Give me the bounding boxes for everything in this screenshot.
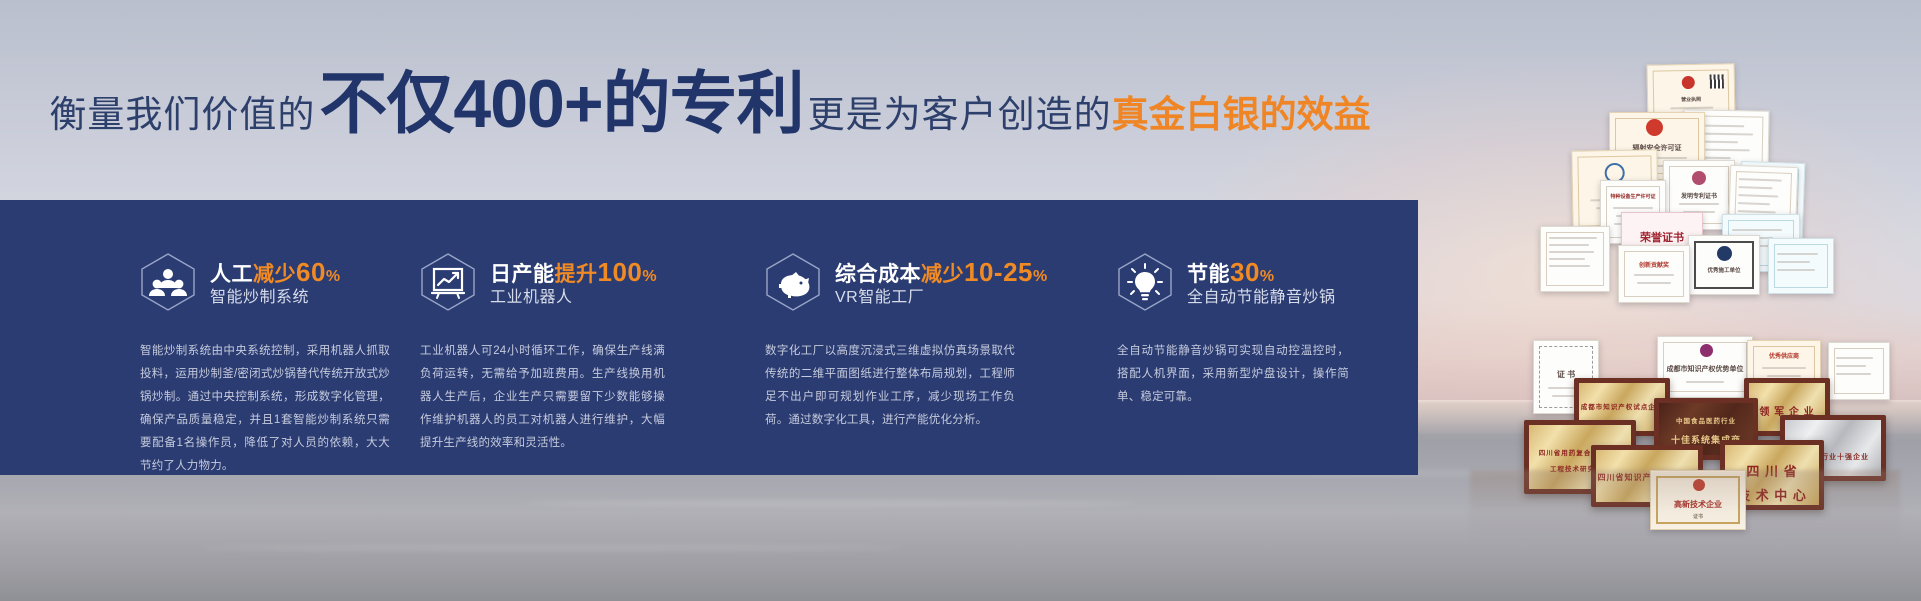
feature-subtitle: 智能炒制系统	[210, 290, 341, 306]
feature-card-titles: 节能30% 全自动节能静音炒锅	[1187, 259, 1336, 306]
certificate	[1828, 342, 1890, 400]
feature-title: 节能30%	[1187, 259, 1336, 285]
certificate: 创新贡献奖	[1618, 245, 1690, 303]
feature-body: 全自动节能静音炒锅可实现自动控温控时，搭配人机界面，采用新型炉盘设计，操作简单、…	[1117, 340, 1349, 409]
feature-title-number: 60	[296, 257, 326, 287]
water-streak	[200, 545, 900, 551]
seal-icon	[1646, 119, 1663, 136]
feature-card-head: 人工减少60% 智能炒制系统	[140, 252, 374, 312]
feature-body: 智能炒制系统由中央系统控制，采用机器人抓取投料，运用炒制釜/密闭式炒锅替代传统开…	[140, 340, 390, 478]
certificate: 优秀施工单位	[1688, 235, 1760, 295]
people-group-icon	[140, 252, 196, 312]
headline-emphasis: 不仅400+的专利	[319, 70, 803, 138]
seal-icon	[1717, 246, 1732, 261]
feature-title-prefix: 综合成本	[835, 263, 921, 286]
piggy-bank-icon	[765, 252, 821, 312]
feature-title-prefix: 人工	[210, 263, 253, 286]
feature-title-unit: %	[1260, 268, 1275, 285]
chart-board-icon	[420, 252, 476, 312]
feature-card: 日产能提升100% 工业机器人 工业机器人可24小时循环工作，确保生产线满负荷运…	[400, 200, 755, 475]
feature-title-unit: %	[642, 268, 657, 285]
feature-card-head: 日产能提升100% 工业机器人	[420, 252, 729, 312]
headline-middle: 更是为客户创造的	[808, 96, 1112, 133]
headline: 衡量我们价值的 不仅400+的专利 更是为客户创造的 真金白银的效益	[0, 70, 1420, 142]
water-streak	[520, 500, 1140, 507]
marketing-banner: 衡量我们价值的 不仅400+的专利 更是为客户创造的 真金白银的效益	[0, 0, 1921, 601]
feature-subtitle: 全自动节能静音炒锅	[1187, 290, 1336, 306]
feature-card: 人工减少60% 智能炒制系统 智能炒制系统由中央系统控制，采用机器人抓取投料，运…	[0, 200, 400, 475]
feature-card-head: 节能30% 全自动节能静音炒锅	[1117, 252, 1392, 312]
feature-title-highlight: 减少	[253, 263, 296, 286]
collage-reflection	[1470, 470, 1900, 540]
feature-title: 综合成本减少10-25%	[835, 259, 1048, 285]
feature-title-prefix: 日产能	[490, 263, 555, 286]
feature-card-titles: 综合成本减少10-25% VR智能工厂	[835, 259, 1048, 306]
certificate	[1768, 238, 1834, 294]
seal-icon	[1692, 171, 1706, 185]
feature-title-highlight: 减少	[921, 263, 964, 286]
certificate-collage: 营业执照 辐射安全许可证	[1440, 40, 1921, 510]
feature-card: 综合成本减少10-25% VR智能工厂 数字化工厂以高度沉浸式三维虚拟仿真场景取…	[755, 200, 1105, 475]
feature-title-number: 100	[598, 257, 643, 287]
feature-title: 日产能提升100%	[490, 259, 657, 285]
headline-accent: 真金白银的效益	[1112, 96, 1371, 133]
certificate: 成都市知识产权优势单位	[1657, 336, 1753, 398]
feature-card-list: 人工减少60% 智能炒制系统 智能炒制系统由中央系统控制，采用机器人抓取投料，运…	[0, 200, 1418, 475]
feature-subtitle: VR智能工厂	[835, 290, 1048, 306]
feature-card: 节能30% 全自动节能静音炒锅 全自动节能静音炒锅可实现自动控温控时，搭配人机界…	[1105, 200, 1418, 475]
feature-title-unit: %	[1033, 268, 1048, 285]
feature-card-titles: 人工减少60% 智能炒制系统	[210, 259, 341, 306]
feature-title: 人工减少60%	[210, 259, 341, 285]
certificate	[1540, 226, 1610, 292]
feature-title-prefix: 节能	[1187, 263, 1230, 286]
feature-body: 工业机器人可24小时循环工作，确保生产线满负荷运转，无需给予加班费用。生产线换用…	[420, 340, 665, 455]
feature-card-head: 综合成本减少10-25% VR智能工厂	[765, 252, 1079, 312]
headline-prefix: 衡量我们价值的	[49, 96, 315, 133]
feature-card-titles: 日产能提升100% 工业机器人	[490, 259, 657, 306]
feature-panel: 人工减少60% 智能炒制系统 智能炒制系统由中央系统控制，采用机器人抓取投料，运…	[0, 200, 1418, 475]
feature-title-number: 10-25	[964, 257, 1033, 287]
feature-title-number: 30	[1230, 257, 1260, 287]
feature-title-highlight: 提升	[555, 263, 598, 286]
feature-subtitle: 工业机器人	[490, 290, 657, 306]
lightbulb-icon	[1117, 252, 1173, 312]
feature-title-unit: %	[326, 268, 341, 285]
feature-body: 数字化工厂以高度沉浸式三维虚拟仿真场景取代传统的二维平面图纸进行整体布局规划，工…	[765, 340, 1015, 432]
seal-icon	[1700, 344, 1713, 357]
